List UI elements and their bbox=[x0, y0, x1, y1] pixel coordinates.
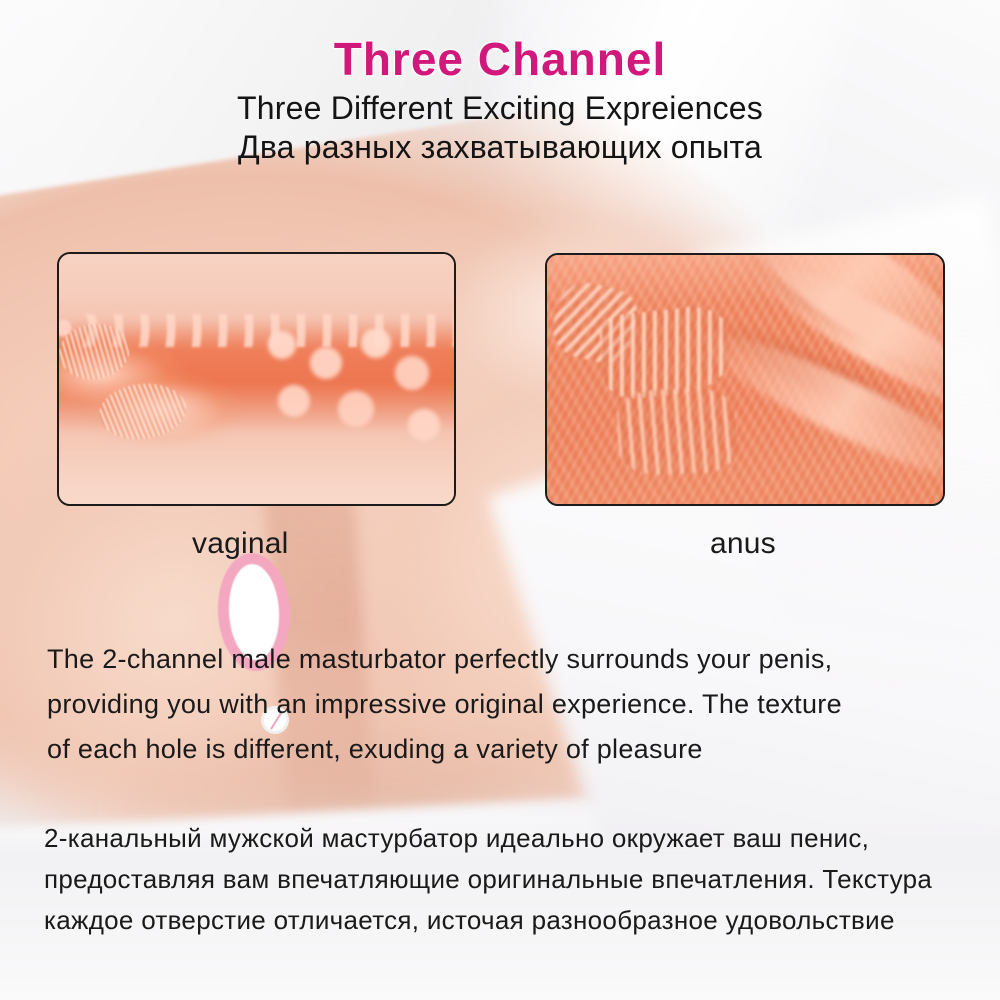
header-block: Three Channel Three Different Exciting E… bbox=[0, 0, 1000, 166]
panel-label-anus: anus bbox=[710, 527, 776, 561]
subtitle-english: Three Different Exciting Expreiences bbox=[0, 90, 1000, 127]
panel-label-vaginal: vaginal bbox=[192, 527, 288, 561]
promo-banner: Three Channel Three Different Exciting E… bbox=[0, 0, 1000, 1000]
vaginal-channel-texture bbox=[59, 254, 454, 504]
texture-nubs bbox=[264, 329, 456, 449]
description-russian: 2-канальный мужской мастурбатор идеально… bbox=[44, 818, 974, 941]
inset-panel-anus bbox=[545, 253, 945, 506]
inset-panel-vaginal bbox=[57, 252, 456, 506]
anal-channel-texture bbox=[547, 255, 943, 504]
texture-top-glow bbox=[545, 253, 945, 305]
texture-comb-lower bbox=[616, 386, 739, 477]
page-title: Three Channel bbox=[0, 32, 1000, 86]
texture-bottom-glow bbox=[57, 439, 456, 506]
subtitle-russian: Два разных захватывающих опыта bbox=[0, 129, 1000, 166]
description-english: The 2-channel male masturbator perfectly… bbox=[47, 637, 972, 772]
